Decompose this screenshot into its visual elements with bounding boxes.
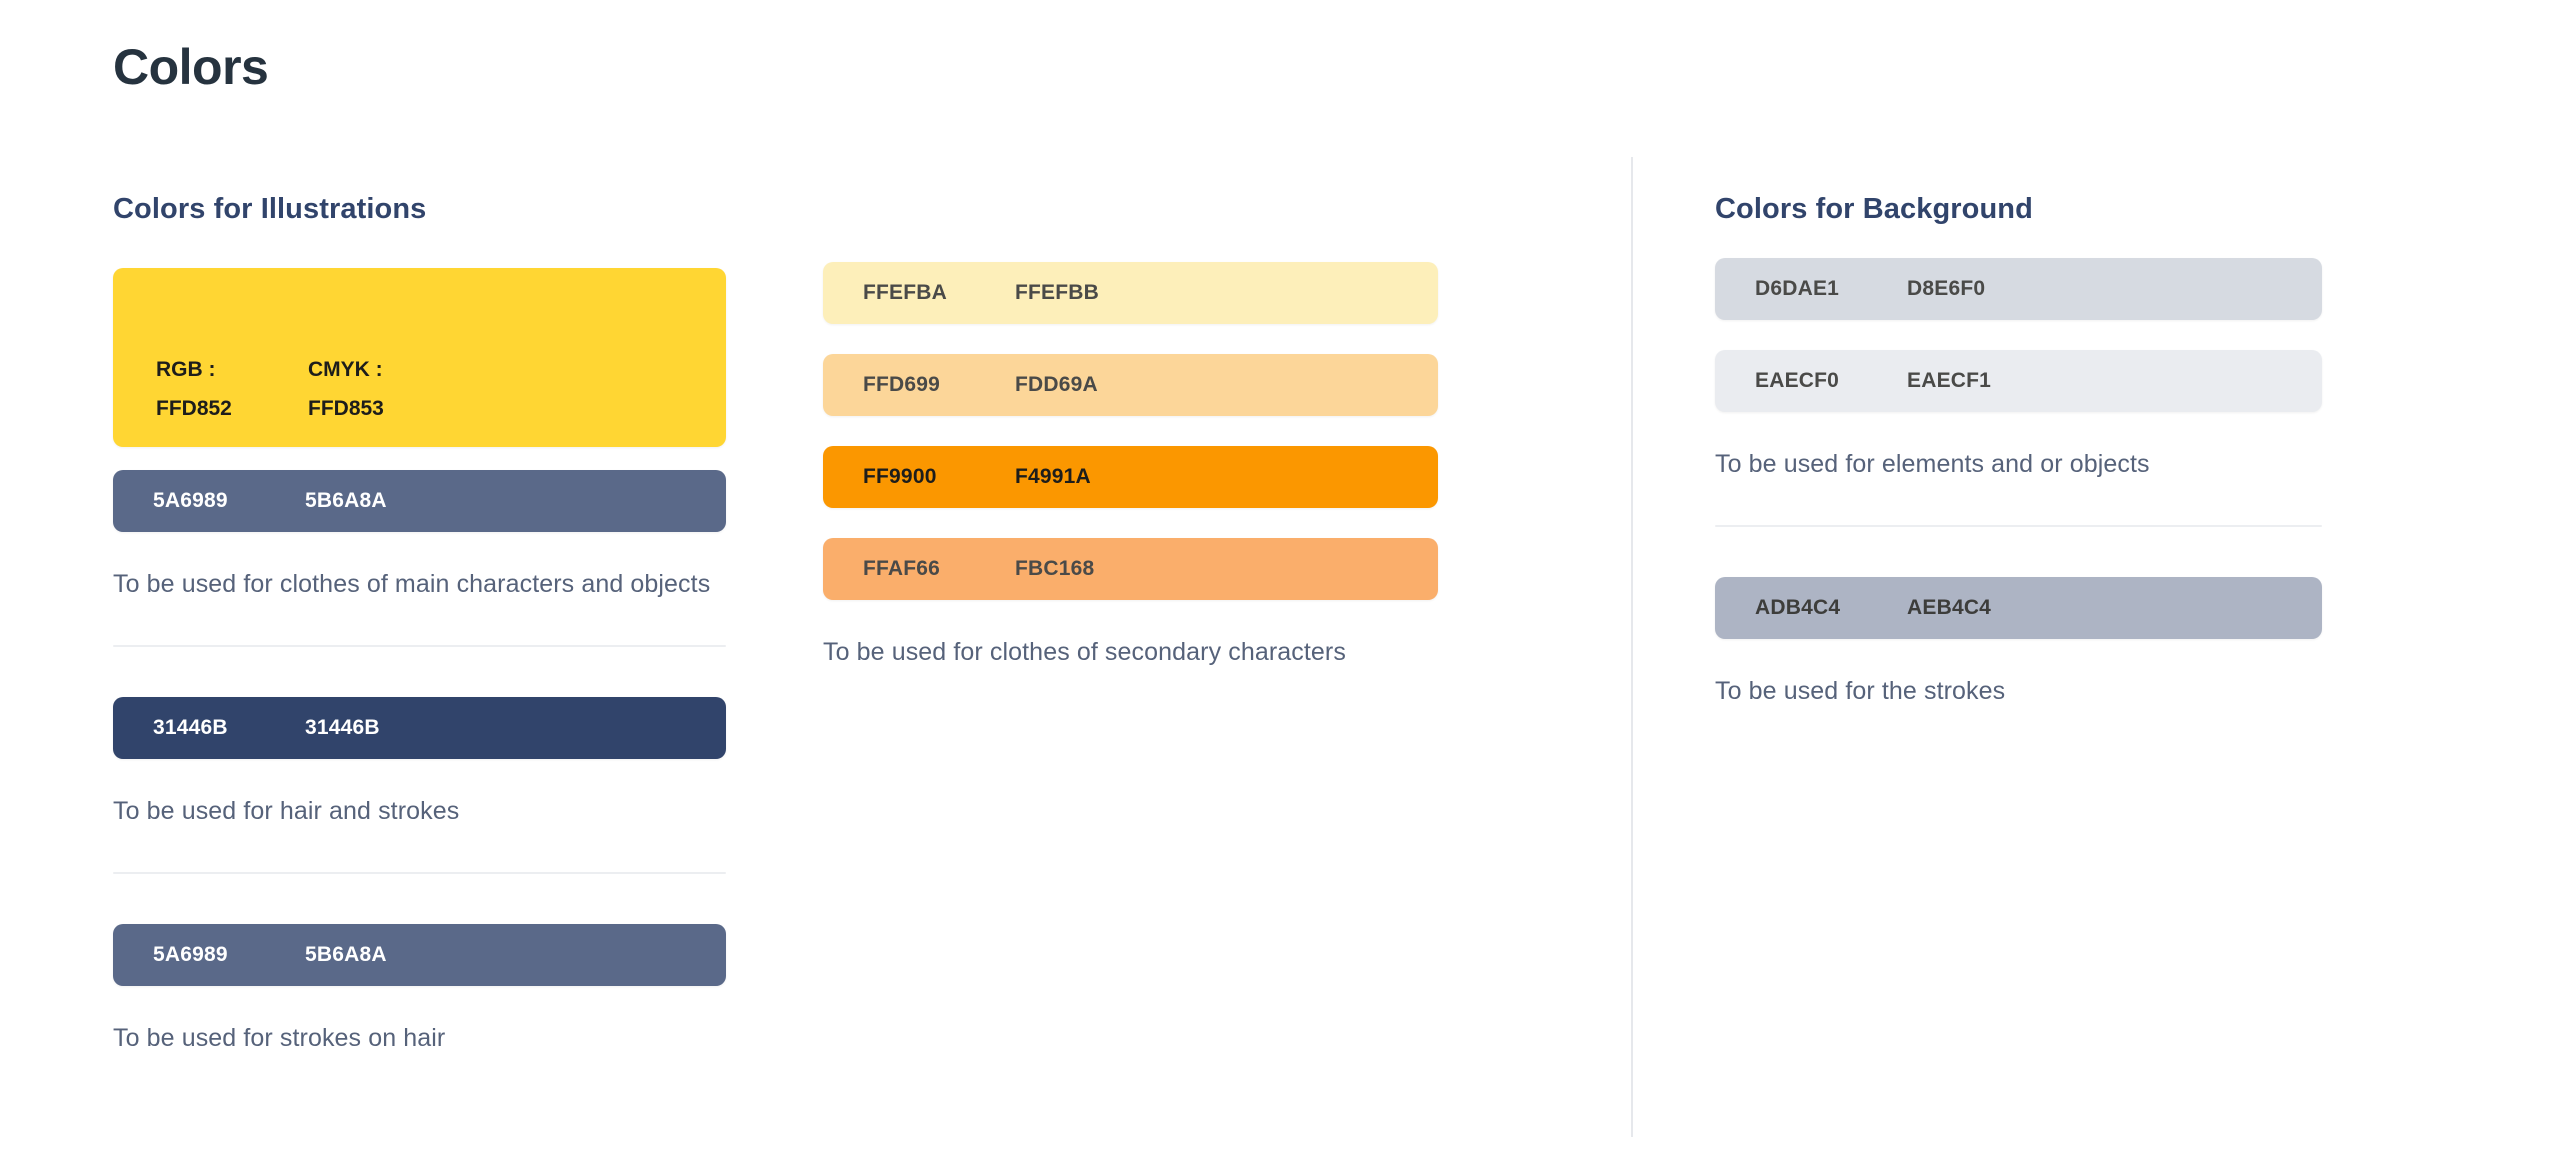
cmyk-value: FBC168	[1015, 557, 1167, 581]
cmyk-value: 5B6A8A	[305, 943, 457, 967]
page-title: Colors	[113, 38, 268, 96]
swatch-code-row: 5A6989 5B6A8A	[153, 489, 457, 513]
swatch-caption: To be used for clothes of secondary char…	[823, 636, 1438, 669]
swatch-caption: To be used for elements and or objects	[1715, 448, 2322, 481]
rgb-label: RGB :	[156, 358, 308, 382]
color-swatch-peach[interactable]: FFAF66 FBC168	[823, 538, 1438, 600]
swatch-code-row: 5A6989 5B6A8A	[153, 943, 457, 967]
cmyk-value: EAECF1	[1907, 369, 2059, 393]
illustrations-column: RGB : FFD852 CMYK : FFD853 5A6989 5B6A8A…	[113, 268, 726, 1055]
cmyk-value: D8E6F0	[1907, 277, 2059, 301]
color-swatch-bg-stroke-gray[interactable]: ADB4C4 AEB4C4	[1715, 577, 2322, 639]
section-heading-illustrations: Colors for Illustrations	[113, 193, 426, 226]
color-swatch-bg-gray-blue[interactable]: D6DAE1 D8E6F0	[1715, 258, 2322, 320]
vertical-divider	[1631, 157, 1633, 1137]
color-swatch-orange[interactable]: FF9900 F4991A	[823, 446, 1438, 508]
swatch-code-row: FFEFBA FFEFBB	[863, 281, 1167, 305]
colors-style-guide-page: Colors Colors for Illustrations RGB : FF…	[0, 0, 2560, 1168]
rgb-value: FFD699	[863, 373, 1015, 397]
rgb-value: 5A6989	[153, 943, 305, 967]
rgb-value: D6DAE1	[1755, 277, 1907, 301]
swatch-group: 31446B 31446B To be used for hair and st…	[113, 697, 726, 924]
color-swatch-cream[interactable]: FFEFBA FFEFBB	[823, 262, 1438, 324]
swatch-code-row: 31446B 31446B	[153, 716, 457, 740]
rgb-value: 31446B	[153, 716, 305, 740]
swatch-code-row: FFD699 FDD69A	[863, 373, 1167, 397]
rgb-value: ADB4C4	[1755, 596, 1907, 620]
swatch-rgb-column: RGB : FFD852	[156, 358, 308, 421]
color-swatch-navy[interactable]: 31446B 31446B	[113, 697, 726, 759]
swatch-group: 5A6989 5B6A8A To be used for clothes of …	[113, 470, 726, 697]
cmyk-value: FFEFBB	[1015, 281, 1167, 305]
swatch-caption: To be used for strokes on hair	[113, 1022, 726, 1055]
swatch-code-row: D6DAE1 D8E6F0	[1755, 277, 2059, 301]
swatch-caption: To be used for hair and strokes	[113, 795, 726, 828]
swatch-group: D6DAE1 D8E6F0 EAECF0 EAECF1 To be used f…	[1715, 258, 2322, 577]
secondary-colors-column: FFEFBA FFEFBB FFD699 FDD69A FF9900 F4991…	[823, 262, 1438, 669]
rgb-value: 5A6989	[153, 489, 305, 513]
cmyk-label: CMYK :	[308, 358, 460, 382]
cmyk-value: F4991A	[1015, 465, 1167, 489]
cmyk-value: 5B6A8A	[305, 489, 457, 513]
swatch-group: 5A6989 5B6A8A To be used for strokes on …	[113, 924, 726, 1055]
swatch-code-row: FF9900 F4991A	[863, 465, 1167, 489]
background-colors-column: D6DAE1 D8E6F0 EAECF0 EAECF1 To be used f…	[1715, 258, 2322, 708]
color-swatch-light-orange[interactable]: FFD699 FDD69A	[823, 354, 1438, 416]
rgb-value: FFD852	[156, 397, 308, 421]
swatch-code-row: EAECF0 EAECF1	[1755, 369, 2059, 393]
color-swatch-slate[interactable]: 5A6989 5B6A8A	[113, 470, 726, 532]
rgb-value: FFAF66	[863, 557, 1015, 581]
rgb-value: FF9900	[863, 465, 1015, 489]
swatch-group: ADB4C4 AEB4C4 To be used for the strokes	[1715, 577, 2322, 708]
cmyk-value: AEB4C4	[1907, 596, 2059, 620]
color-swatch-bg-light-gray[interactable]: EAECF0 EAECF1	[1715, 350, 2322, 412]
cmyk-value: FFD853	[308, 397, 460, 421]
swatch-caption: To be used for clothes of main character…	[113, 568, 726, 601]
section-heading-background: Colors for Background	[1715, 193, 2033, 226]
rgb-value: EAECF0	[1755, 369, 1907, 393]
swatch-cmyk-column: CMYK : FFD853	[308, 358, 460, 421]
color-swatch-primary-yellow[interactable]: RGB : FFD852 CMYK : FFD853	[113, 268, 726, 447]
swatch-caption: To be used for the strokes	[1715, 675, 2322, 708]
rgb-value: FFEFBA	[863, 281, 1015, 305]
swatch-code-row: ADB4C4 AEB4C4	[1755, 596, 2059, 620]
color-swatch-slate-strokes[interactable]: 5A6989 5B6A8A	[113, 924, 726, 986]
cmyk-value: FDD69A	[1015, 373, 1167, 397]
swatch-code-grid: RGB : FFD852 CMYK : FFD853	[156, 358, 460, 421]
cmyk-value: 31446B	[305, 716, 457, 740]
swatch-code-row: FFAF66 FBC168	[863, 557, 1167, 581]
